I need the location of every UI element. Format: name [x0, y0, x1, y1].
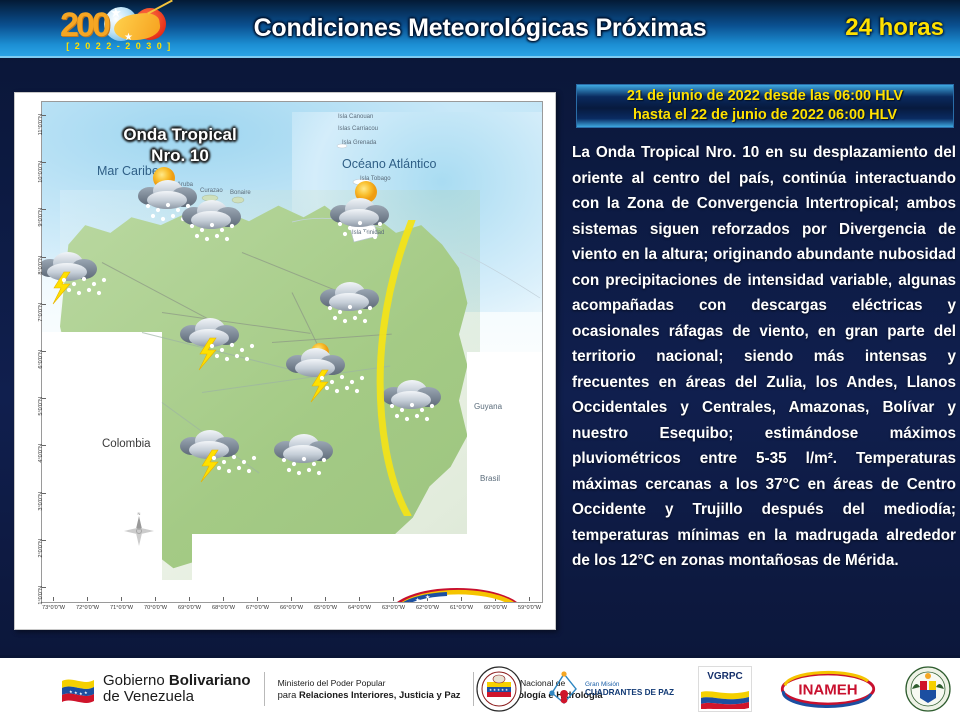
longitude-tick-label: 68°0'0"W [212, 605, 235, 611]
footer-divider [264, 672, 265, 706]
cuadrantes-map-pin-icon [547, 669, 581, 709]
svg-text:★: ★ [497, 688, 500, 692]
longitude-tick-label: 71°0'0"W [110, 605, 133, 611]
footer-bar: ★★★★ Gobierno Bolivariano de Venezuela M… [0, 655, 960, 720]
gobierno-line1-light: Gobierno [103, 672, 169, 689]
weather-icon-cloud-rain [182, 200, 241, 241]
weather-icon-cloud-storm [180, 430, 256, 482]
longitude-tick-label: 61°0'0"W [450, 605, 473, 611]
cuadrantes-de-paz-logo: Gran Misión CUADRANTES DE PAZ [547, 669, 674, 709]
longitude-tick-label: 66°0'0"W [280, 605, 303, 611]
footer-logos: ★★★ ★★ Gran Misión CUADRANTES DE PAZ [475, 662, 952, 716]
validity-end: hasta el 22 de junio de 2022 06:00 HLV [633, 106, 897, 125]
inameh-footer-logo: INAMEH [776, 669, 880, 709]
ministerio-line2-bold: Relaciones Interiores, Justicia y Paz [299, 689, 461, 700]
vgrpc-flag-icon [699, 689, 751, 709]
gobierno-text: Gobierno Bolivariano de Venezuela [103, 673, 251, 705]
longitude-tick-label: 73°0'0"W [42, 605, 65, 611]
longitude-tick-label: 63°0'0"W [382, 605, 405, 611]
longitude-tick-label: 72°0'0"W [76, 605, 99, 611]
weather-bulletin-page: ★ ★ 200 [ 2 0 2 2 - 2 0 3 0 ] Condicione… [0, 0, 960, 720]
inameh-logo: ★ ★ ★ INAMEH [387, 584, 527, 603]
longitude-tick-label: 59°0'0"W [518, 605, 541, 611]
escudo-nacional-logo [904, 665, 952, 713]
longitude-tick-label: 60°0'0"W [484, 605, 507, 611]
longitude-tick-label: 69°0'0"W [178, 605, 201, 611]
weather-icon-cloud-storm [42, 252, 106, 304]
header-bar: ★ ★ 200 [ 2 0 2 2 - 2 0 3 0 ] Condicione… [0, 0, 960, 58]
weather-icon-cloud-storm [286, 343, 364, 402]
ministerio-text: Ministerio del Poder Popular para Relaci… [278, 677, 461, 701]
longitude-tick-label: 70°0'0"W [144, 605, 167, 611]
hours-badge: 24 horas [845, 14, 944, 42]
inameh-footer-text: INAMEH [798, 682, 857, 699]
svg-text:★: ★ [79, 691, 83, 696]
longitude-tick-label: 67°0'0"W [246, 605, 269, 611]
vgrpc-text: VGRPC [699, 671, 751, 682]
map-plot-area: Mar Caribe Océano Atlántico Colombia Guy… [41, 101, 543, 603]
weather-icons-layer [42, 102, 542, 602]
ministerio-line2-light: para [278, 689, 299, 700]
ministerio-line1: Ministerio del Poder Popular [278, 677, 461, 689]
ministerio-seal-logo: ★★★ ★★ [475, 665, 523, 713]
tropical-wave-label-line2: Nro. 10 [80, 145, 280, 166]
forecast-text: La Onda Tropical Nro. 10 en su desplazam… [572, 140, 956, 574]
svg-text:★: ★ [407, 601, 412, 603]
gobierno-line2: de Venezuela [103, 689, 251, 705]
vgrpc-logo: VGRPC [698, 666, 752, 712]
tropical-wave-label: Onda Tropical Nro. 10 [80, 124, 280, 166]
forecast-map: Mar Caribe Océano Atlántico Colombia Guy… [14, 92, 556, 630]
longitude-tick-label: 65°0'0"W [314, 605, 337, 611]
validity-period-panel: 21 de junio de 2022 desde las 06:00 HLV … [576, 84, 954, 128]
cuadrantes-text: Gran Misión CUADRANTES DE PAZ [585, 681, 674, 698]
weather-icon-cloud-storm [180, 318, 254, 370]
svg-text:★: ★ [505, 688, 508, 692]
longitude-tick-label: 64°0'0"W [348, 605, 371, 611]
svg-text:★: ★ [69, 689, 73, 694]
venezuela-flag-icon: ★★★★ [60, 675, 96, 703]
svg-text:★: ★ [84, 690, 88, 695]
svg-text:★: ★ [425, 594, 430, 601]
svg-text:★: ★ [501, 688, 504, 692]
tropical-wave-label-line1: Onda Tropical [80, 124, 280, 145]
tropical-wave-line [364, 220, 454, 516]
longitude-tick-label: 62°0'0"W [416, 605, 439, 611]
svg-text:★: ★ [489, 688, 492, 692]
svg-text:★: ★ [74, 690, 78, 695]
cuadrantes-line2: CUADRANTES DE PAZ [585, 688, 674, 697]
validity-start: 21 de junio de 2022 desde las 06:00 HLV [627, 87, 903, 106]
svg-text:★: ★ [493, 688, 496, 692]
page-title: Condiciones Meteorológicas Próximas [0, 0, 960, 56]
svg-text:★: ★ [415, 597, 420, 603]
gobierno-line1-bold: Bolivariano [169, 672, 251, 689]
weather-icon-cloud-rain [274, 434, 333, 475]
